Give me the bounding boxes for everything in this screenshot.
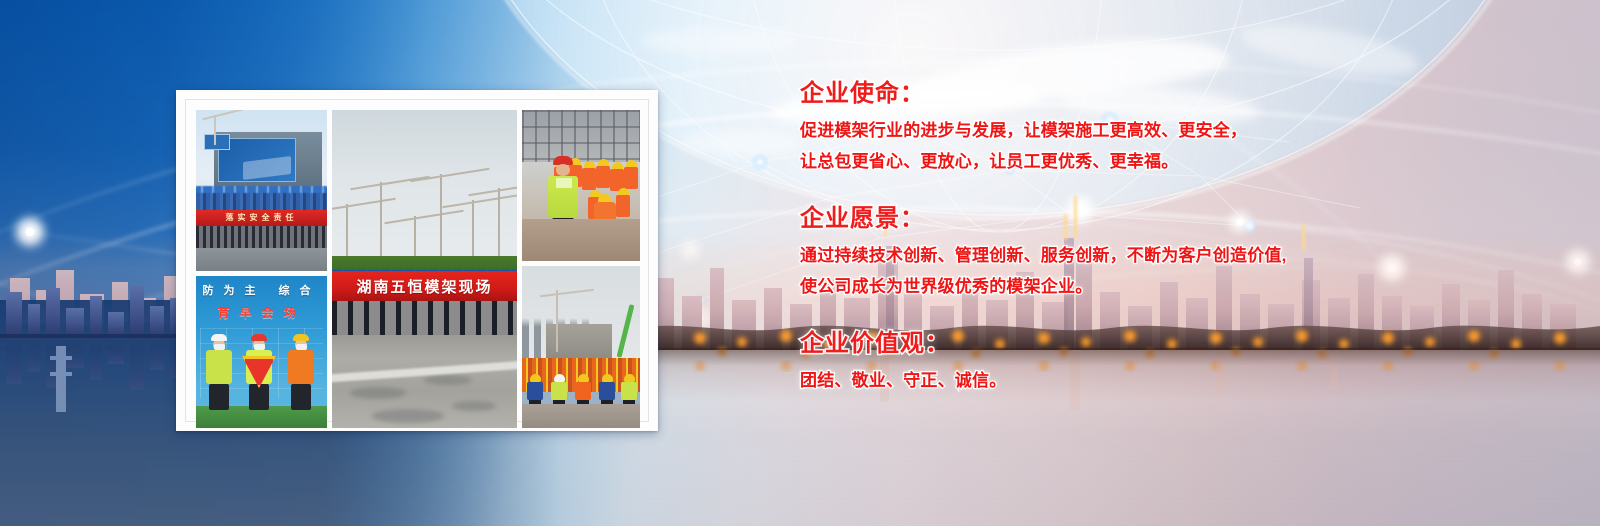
photo-collage: 落实安全责任 防为主 综合 育早会场 [176,90,658,431]
vision-line-2: 使公司成长为世界级优秀的模架企业。 [800,272,1540,302]
mission-line-1: 促进模架行业的进步与发展，让模架施工更高效、更安全， [800,116,1540,146]
mission-line-2: 让总包更省心、更放心，让员工更优秀、更幸福。 [800,147,1540,177]
photo-award-red-text: 育早会场 [196,304,327,324]
photo-site-banner-text: 湖南五恒模架现场 [356,276,492,297]
vision-heading: 企业愿景： [800,203,1540,235]
values-line-1: 团结、敬业、守正、诚信。 [800,366,1540,396]
photo-rally-banner-text: 落实安全责任 [196,210,327,226]
photo-rally: 落实安全责任 [196,110,327,271]
photo-assembly [522,266,640,428]
values-heading: 企业价值观： [800,328,1540,360]
company-culture-banner: 落实安全责任 防为主 综合 育早会场 [0,0,1600,526]
vision-line-1: 通过持续技术创新、管理创新、服务创新，不断为客户创造价值, [800,241,1540,271]
mission-heading: 企业使命： [800,78,1540,110]
vision-block: 企业愿景： 通过持续技术创新、管理创新、服务创新，不断为客户创造价值, 使公司成… [800,203,1540,302]
photo-site-team: 湖南五恒模架现场 [332,110,517,428]
photo-award: 防为主 综合 育早会场 [196,276,327,428]
values-block: 企业价值观： 团结、敬业、守正、诚信。 [800,328,1540,397]
mission-block: 企业使命： 促进模架行业的进步与发展，让模架施工更高效、更安全， 让总包更省心、… [800,78,1540,177]
photo-award-top-text: 防为主 综合 [196,282,327,300]
photo-briefing [522,110,640,261]
culture-text-column: 企业使命： 促进模架行业的进步与发展，让模架施工更高效、更安全， 让总包更省心、… [800,78,1540,396]
